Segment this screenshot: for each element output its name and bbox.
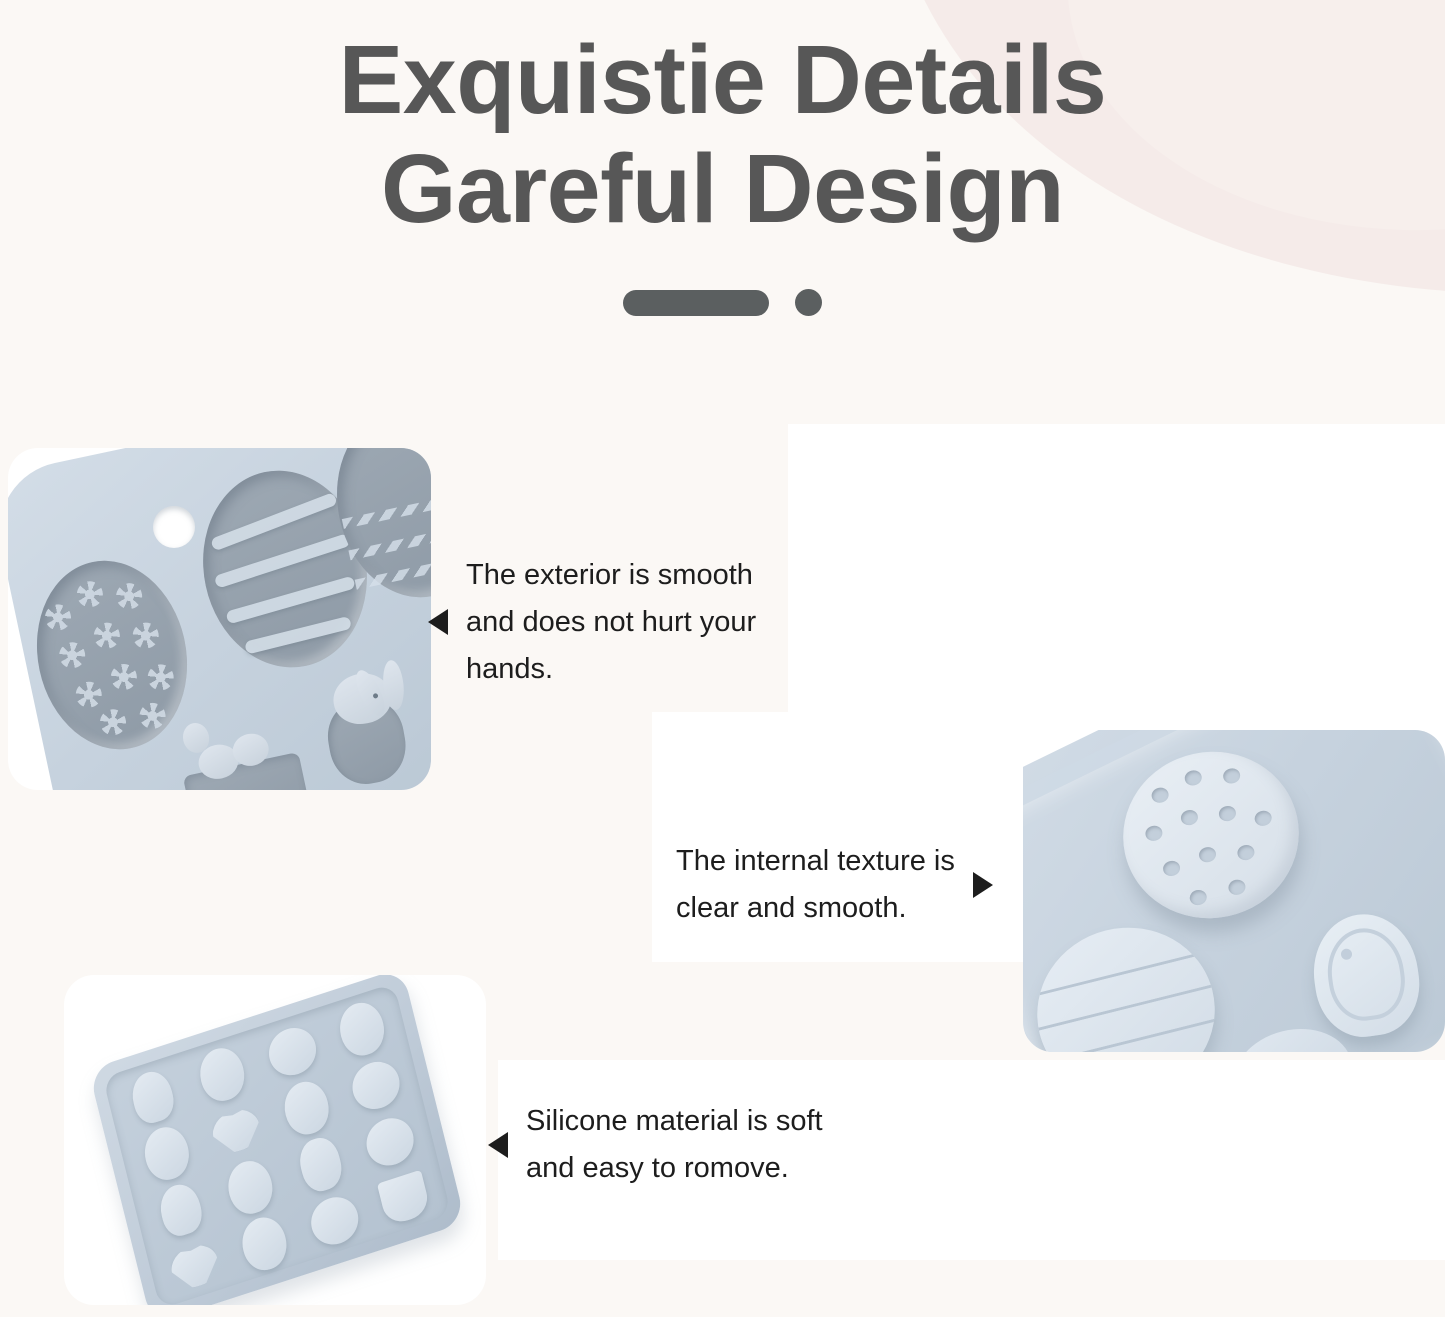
product-photo-card-exterior — [8, 448, 431, 790]
callout-material: Silicone material is soft and easy to ro… — [488, 1098, 823, 1192]
triangle-left-icon — [428, 609, 448, 635]
divider-bar-icon — [623, 290, 769, 316]
hanging-hole-icon — [153, 506, 195, 548]
callout-exterior-text: The exterior is smooth and does not hurt… — [466, 552, 756, 693]
product-photo-card-full-tray — [64, 975, 486, 1305]
callout-internal-texture: The internal texture is clear and smooth… — [676, 838, 993, 932]
photo-exterior-closeup — [8, 448, 431, 790]
product-photo-card-internal-texture — [1023, 730, 1445, 1052]
photo-cavity-texture-closeup — [1023, 730, 1445, 1052]
triangle-left-icon — [488, 1132, 508, 1158]
photo-full-tray — [64, 975, 486, 1305]
white-panel-upper-right — [788, 424, 1445, 712]
callout-exterior: The exterior is smooth and does not hurt… — [428, 552, 756, 693]
page-title-line-1: Exquistie Details — [0, 26, 1445, 135]
cavity-grid — [114, 993, 442, 1300]
page-title-line-2: Gareful Design — [0, 135, 1445, 244]
callout-material-text: Silicone material is soft and easy to ro… — [526, 1098, 823, 1192]
header: Exquistie Details Gareful Design — [0, 0, 1445, 316]
callout-internal-texture-text: The internal texture is clear and smooth… — [676, 838, 955, 932]
divider-dot-icon — [795, 289, 822, 316]
full-mold-tray — [88, 975, 465, 1305]
cavity-chick — [1293, 880, 1442, 1052]
triangle-right-icon — [973, 872, 993, 898]
header-divider — [0, 289, 1445, 316]
